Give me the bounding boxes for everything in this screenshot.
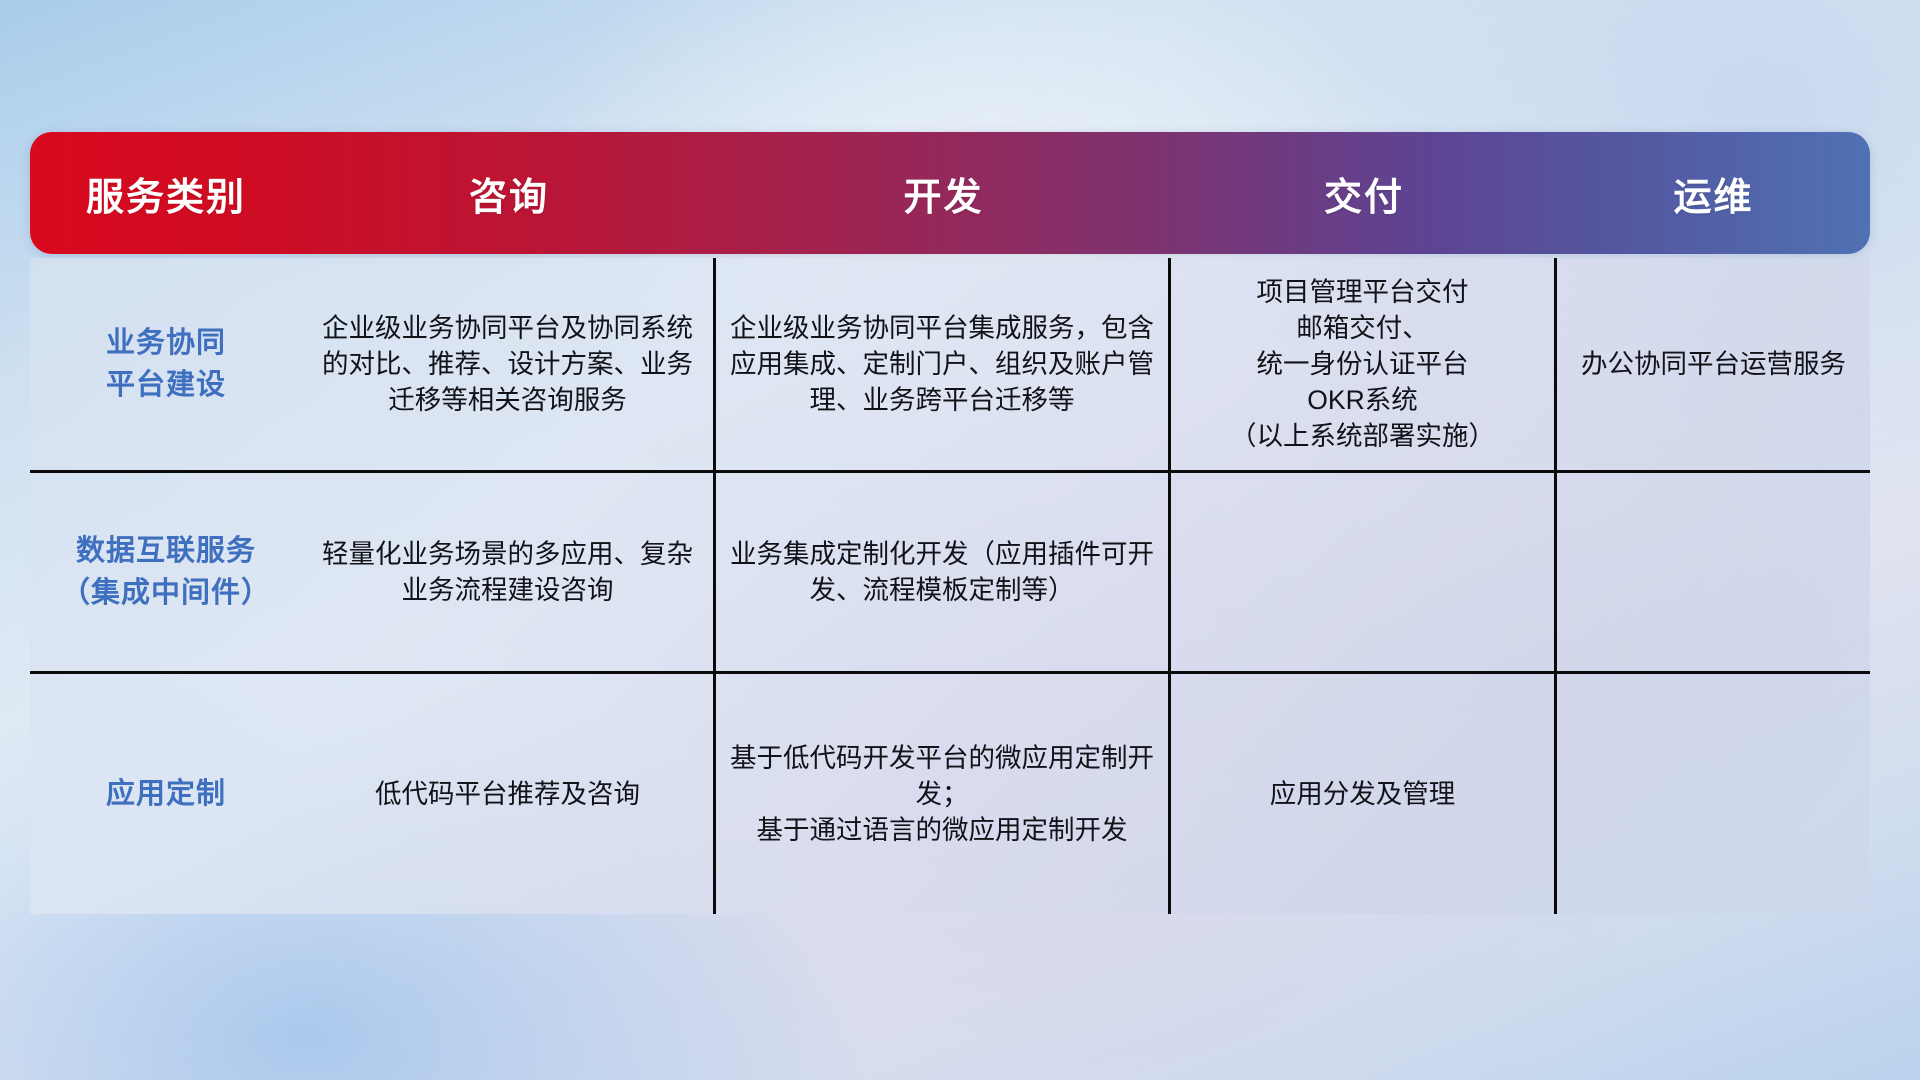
column-header-development: 开发	[716, 166, 1171, 221]
cell-delivery: 项目管理平台交付 邮箱交付、 统一身份认证平台 OKR系统 （以上系统部署实施）	[1171, 258, 1557, 470]
row-category-label: 数据互联服务 （集成中间件）	[30, 473, 302, 671]
column-header-operations: 运维	[1557, 166, 1870, 221]
column-header-category: 服务类别	[30, 166, 302, 221]
row-category-label: 应用定制	[30, 674, 302, 914]
table-row: 业务协同 平台建设 企业级业务协同平台及协同系统的对比、推荐、设计方案、业务迁移…	[30, 258, 1870, 470]
row-category-label: 业务协同 平台建设	[30, 258, 302, 470]
table-row: 数据互联服务 （集成中间件） 轻量化业务场景的多应用、复杂业务流程建设咨询 业务…	[30, 470, 1870, 671]
table-header-row: 服务类别 咨询 开发 交付 运维	[30, 132, 1870, 254]
cell-operations	[1557, 674, 1870, 914]
column-header-consulting: 咨询	[302, 166, 716, 221]
cell-delivery: 应用分发及管理	[1171, 674, 1557, 914]
cell-delivery	[1171, 473, 1557, 671]
cell-development: 基于低代码开发平台的微应用定制开发； 基于通过语言的微应用定制开发	[716, 674, 1171, 914]
cell-development: 业务集成定制化开发（应用插件可开发、流程模板定制等）	[716, 473, 1171, 671]
table-row: 应用定制 低代码平台推荐及咨询 基于低代码开发平台的微应用定制开发； 基于通过语…	[30, 671, 1870, 914]
cell-consulting: 企业级业务协同平台及协同系统的对比、推荐、设计方案、业务迁移等相关咨询服务	[302, 258, 716, 470]
table-body: 业务协同 平台建设 企业级业务协同平台及协同系统的对比、推荐、设计方案、业务迁移…	[30, 258, 1870, 914]
cell-consulting: 低代码平台推荐及咨询	[302, 674, 716, 914]
service-matrix-table: 服务类别 咨询 开发 交付 运维 业务协同 平台建设 企业级业务协同平台及协同系…	[30, 132, 1870, 914]
cell-operations	[1557, 473, 1870, 671]
cell-consulting: 轻量化业务场景的多应用、复杂业务流程建设咨询	[302, 473, 716, 671]
cell-operations: 办公协同平台运营服务	[1557, 258, 1870, 470]
cell-development: 企业级业务协同平台集成服务，包含应用集成、定制门户、组织及账户管理、业务跨平台迁…	[716, 258, 1171, 470]
column-header-delivery: 交付	[1171, 166, 1557, 221]
